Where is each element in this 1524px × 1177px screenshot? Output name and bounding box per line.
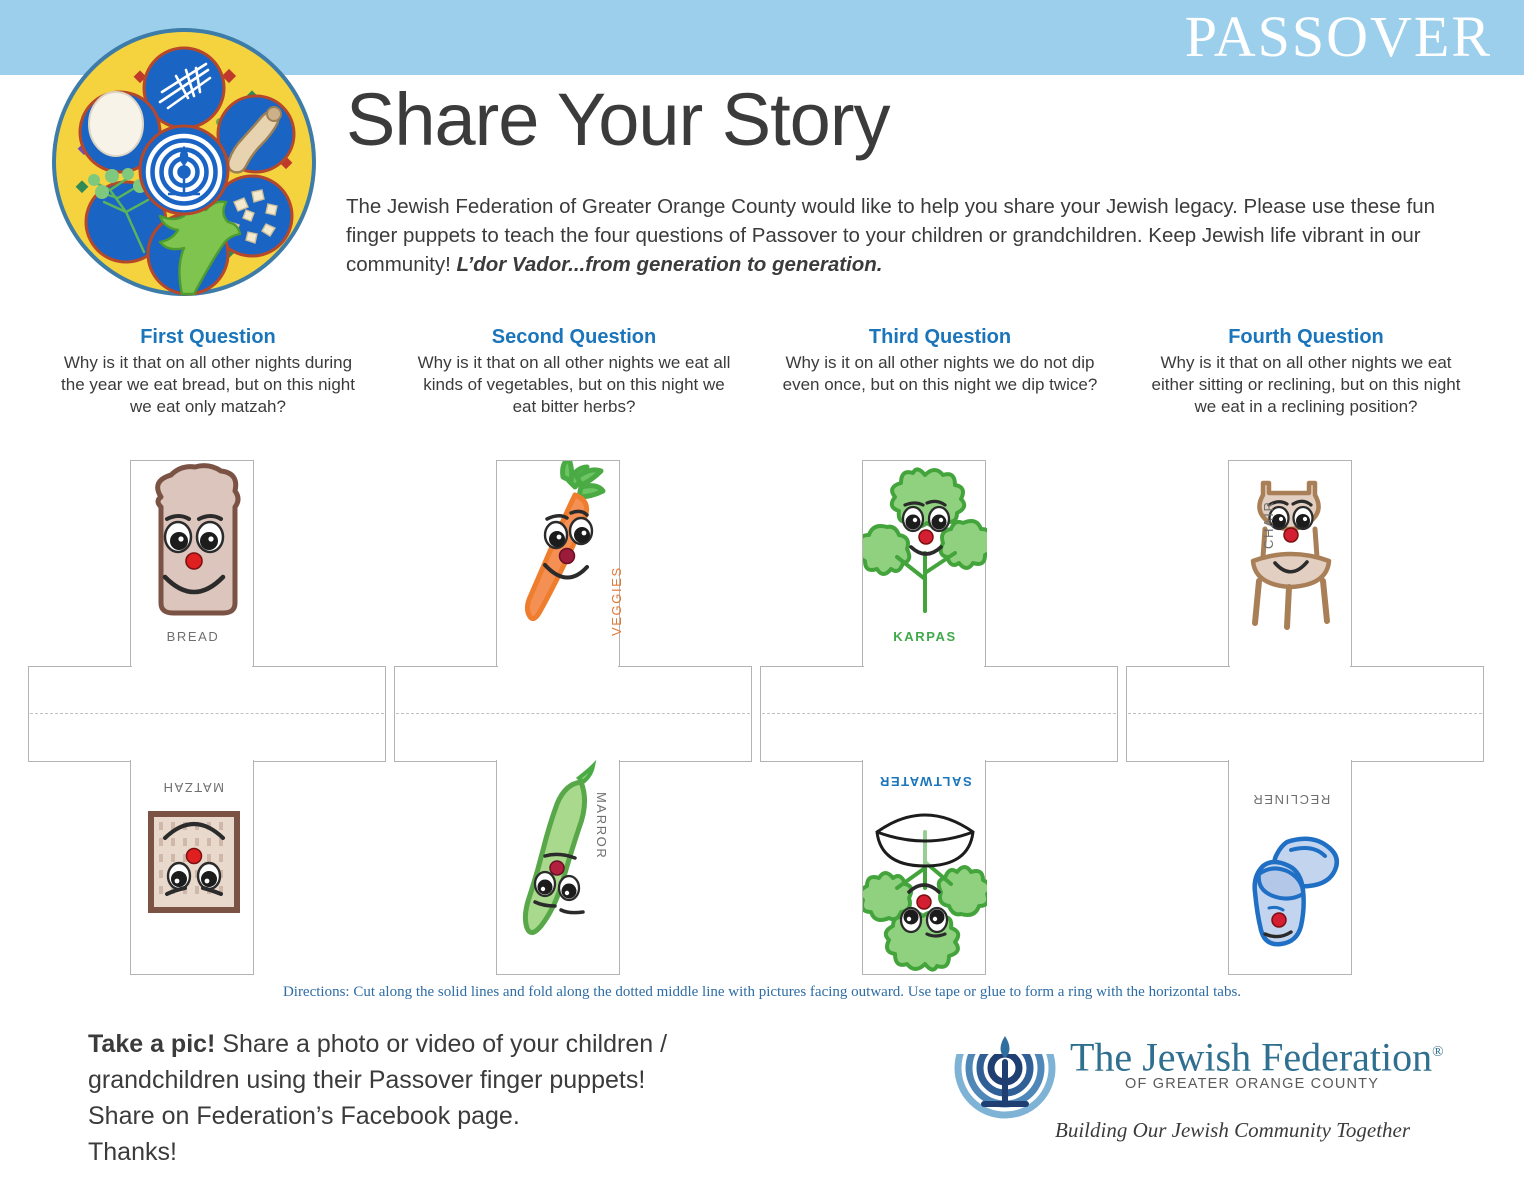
puppet-horizontal-tab [1126,666,1484,762]
intro-paragraph: The Jewish Federation of Greater Orange … [346,192,1486,279]
registered-mark: ® [1432,1044,1443,1060]
puppet-bottom-panel: MARROR [496,760,620,975]
fold-line [762,713,1116,714]
puppet-top-label: BREAD [131,629,255,644]
puppet-top-label: VEGGIES [609,566,624,636]
carrot-icon [497,461,621,669]
question-heading: Fourth Question [1126,326,1486,349]
chair-icon [1229,461,1353,669]
question-column-3: Third Question Why is it on all other ni… [760,326,1120,396]
puppet-horizontal-tab [760,666,1118,762]
puppet-top-panel: BREAD [130,460,254,668]
puppet-bottom-panel: MATZAH [130,760,254,975]
logo-name: The Jewish Federation [1070,1034,1432,1079]
take-a-pic-bold: Take a pic! [88,1030,215,1058]
puppet-bottom-panel: RECLINER [1228,760,1352,975]
puppet-top-label: KARPAS [863,629,987,644]
puppet-bottom-label: SALTWATER [863,774,987,789]
question-text: Why is it that on all other nights we ea… [1126,352,1486,418]
logo-wordmark: The Jewish Federation® [1070,1030,1444,1079]
directions-text: Directions: Cut along the solid lines an… [0,984,1524,1001]
take-a-pic-line-3: Share on Federation’s Facebook page. [88,1102,520,1130]
take-a-pic-line-4: Thanks! [88,1138,177,1166]
passover-activity-sheet: PASSOVER [0,0,1524,1177]
tab-join-mask-top [132,665,252,668]
puppet-top-panel: CHAIR [1228,460,1352,668]
tab-join-mask-top [1230,665,1350,668]
parsley-in-saltwater-icon [863,794,987,1009]
fold-line [396,713,750,714]
tab-join-mask-top [864,665,984,668]
puppet-top-panel: VEGGIES [496,460,620,668]
puppet-horizontal-tab [394,666,752,762]
tab-join-mask-top [498,665,618,668]
logo-subtitle: OF GREATER ORANGE COUNTY [1125,1076,1379,1092]
puppet-template-3: KARPAS SALTWATER [760,460,1120,975]
questions-row: First Question Why is it that on all oth… [0,326,1524,446]
question-heading: Third Question [760,326,1120,349]
puppet-horizontal-tab [28,666,386,762]
puppet-bottom-label: MATZAH [131,780,255,795]
question-text: Why is it that on all other nights durin… [28,352,388,418]
puppet-top-label: CHAIR [1261,501,1276,549]
take-a-pic-text: Take a pic! Share a photo or video of yo… [88,1026,788,1170]
puppet-template-2: VEGGIES [394,460,754,975]
passover-banner-title: PASSOVER [1185,2,1492,72]
intro-emphasis: L’dor Vador...from generation to generat… [457,253,883,276]
question-column-2: Second Question Why is it that on all ot… [394,326,754,418]
puppet-bottom-label: RECLINER [1229,792,1353,807]
intro-line-1: The Jewish Federation of Greater Orange … [346,195,1306,218]
question-column-1: First Question Why is it that on all oth… [28,326,388,418]
page-title: Share Your Story [346,78,889,162]
logo-tagline: Building Our Jewish Community Together [1055,1118,1410,1143]
puppet-template-1: BREAD MATZAH [28,460,388,975]
puppet-bottom-label: MARROR [594,792,609,859]
take-a-pic-line-1: Share a photo or video of your children … [215,1030,667,1058]
puppet-template-4: CHAIR RECLINER [1126,460,1486,975]
take-a-pic-line-2: grandchildren using their Passover finge… [88,1066,645,1094]
question-heading: First Question [28,326,388,349]
jewish-federation-logo: The Jewish Federation® OF GREATER ORANGE… [950,1018,1430,1150]
question-text: Why is it that on all other nights we ea… [394,352,754,418]
puppet-bottom-panel: SALTWATER [862,760,986,975]
seder-plate-icon [48,26,320,298]
question-heading: Second Question [394,326,754,349]
question-column-4: Fourth Question Why is it that on all ot… [1126,326,1486,418]
puppet-top-panel: KARPAS [862,460,986,668]
fold-line [30,713,384,714]
fold-line [1128,713,1482,714]
matzah-icon [131,800,255,1015]
menorah-circle-icon [950,1018,1060,1122]
question-text: Why is it on all other nights we do not … [760,352,1120,396]
